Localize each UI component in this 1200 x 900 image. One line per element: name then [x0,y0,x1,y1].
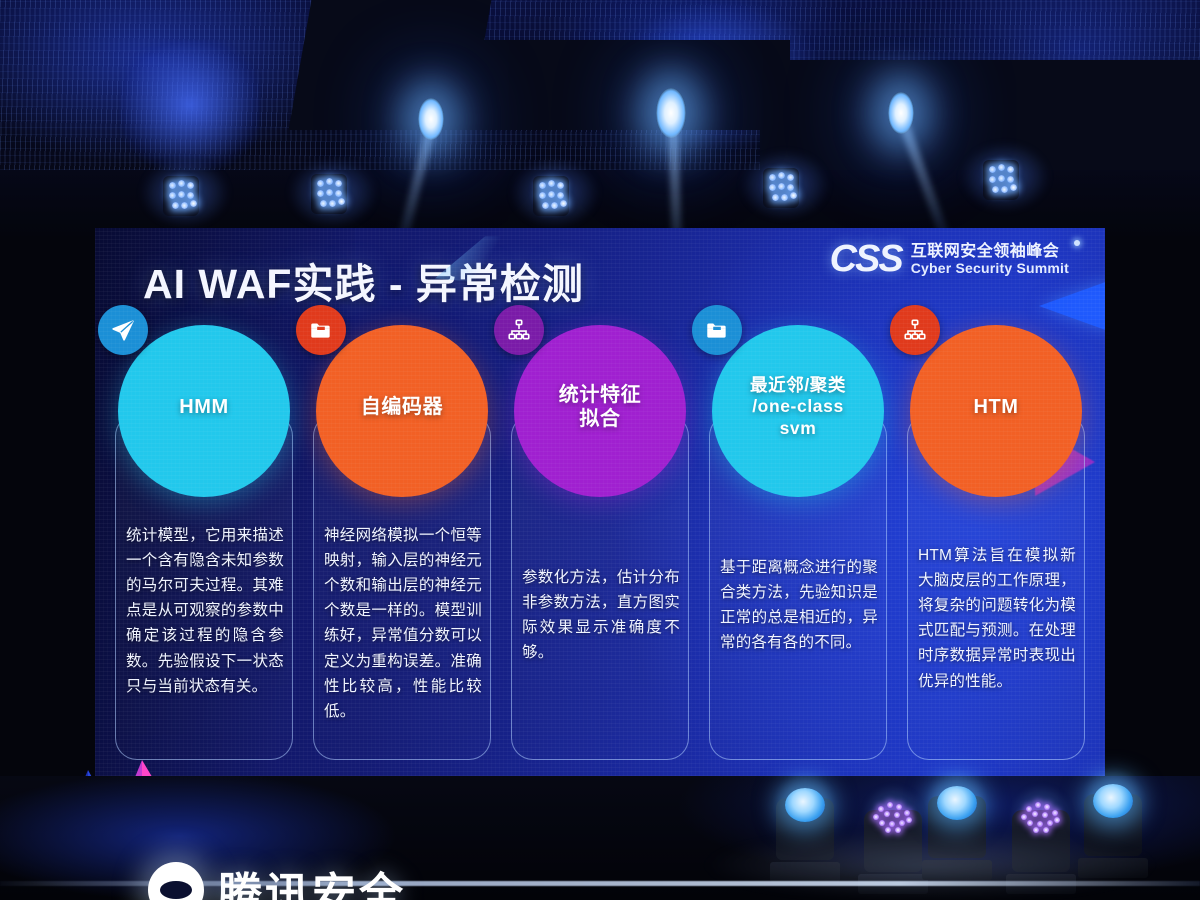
algorithm-card-htm[interactable]: HTM HTM算法旨在模拟新大脑皮层的工作原理，将复杂的问题转化为模式匹配与预测… [907,414,1085,760]
sitemap-icon [890,305,940,355]
card-description-statistical-fitting: 参数化方法，估计分布非参数方法，直方图实际效果显示准确度不够。 [522,565,680,665]
algorithm-card-autoencoder[interactable]: 自编码器 神经网络模拟一个恒等映射，输入层的神经元个数和输出层的神经元个数是一样… [313,414,491,760]
ceiling-spotlight-2 [656,88,686,138]
folder-icon [692,305,742,355]
card-description-htm: HTM算法旨在模拟新大脑皮层的工作原理，将复杂的问题转化为模式匹配与预测。在处理… [918,543,1076,694]
sitemap-icon [494,305,544,355]
truss-center [430,40,790,130]
card-title-hmm: HMM [179,395,229,419]
ceiling-spotlight-1 [418,98,444,140]
slide-title: AI WAF实践 - 异常检测 [143,250,584,310]
algorithm-card-statistical-fitting[interactable]: 统计特征拟合 参数化方法，估计分布非参数方法，直方图实际效果显示准确度不够。 [511,414,689,760]
tencent-logo-text: 腾讯安全 [218,858,406,900]
card-description-knn-clustering-svm: 基于距离概念进行的聚合类方法，先验知识是正常的总是相近的，异常的各有各的不同。 [720,555,878,655]
card-bubble-knn-clustering-svm: 最近邻/聚类/one-classsvm [712,325,884,497]
tencent-logo-mark [148,862,204,900]
conference-stage-photo: AI WAF实践 - 异常检测 CSS 互联网安全领袖峰会 Cyber Secu… [0,0,1200,900]
card-bubble-htm: HTM [910,325,1082,497]
par-light-1 [163,176,199,216]
css-logo-cn: 互联网安全领袖峰会 [911,243,1069,260]
card-title-knn-clustering-svm: 最近邻/聚类/one-classsvm [750,375,846,439]
stage-haze [700,830,1160,900]
par-light-3 [533,176,569,216]
presentation-slide: AI WAF实践 - 异常检测 CSS 互联网安全领袖峰会 Cyber Secu… [95,228,1105,776]
par-light-5 [983,160,1019,200]
par-light-4 [763,168,799,208]
card-title-htm: HTM [973,395,1018,419]
css-logo-en: Cyber Security Summit [911,261,1069,276]
paper-plane-icon [98,305,148,355]
card-title-autoencoder: 自编码器 [361,395,443,419]
card-description-hmm: 统计模型，它用来描述一个含有隐含未知参数的马尔可夫过程。其难点是从可观察的参数中… [126,523,284,699]
card-bubble-hmm: HMM [118,325,290,497]
algorithm-card-hmm[interactable]: HMM 统计模型，它用来描述一个含有隐含未知参数的马尔可夫过程。其难点是从可观察… [115,414,293,760]
card-bubble-autoencoder: 自编码器 [316,325,488,497]
css-logo-mark: CSS [830,238,902,281]
card-title-statistical-fitting: 统计特征拟合 [559,383,641,432]
tencent-security-logo: 腾讯安全 [148,858,406,900]
ceiling-glow-left [120,40,260,170]
card-description-autoencoder: 神经网络模拟一个恒等映射，输入层的神经元个数和输出层的神经元个数是一样的。模型训… [324,523,482,724]
card-bubble-statistical-fitting: 统计特征拟合 [514,325,686,497]
css-summit-logo: CSS 互联网安全领袖峰会 Cyber Security Summit [830,238,1069,281]
ceiling-spotlight-3 [888,92,914,134]
par-light-2 [311,174,347,214]
algorithm-card-list: HMM 统计模型，它用来描述一个含有隐含未知参数的马尔可夫过程。其难点是从可观察… [115,414,1085,760]
css-logo-dot [1074,240,1080,246]
decorative-triangle-right-top [1039,280,1105,332]
folder-icon [296,305,346,355]
algorithm-card-knn-clustering-svm[interactable]: 最近邻/聚类/one-classsvm 基于距离概念进行的聚合类方法，先验知识是… [709,414,887,760]
